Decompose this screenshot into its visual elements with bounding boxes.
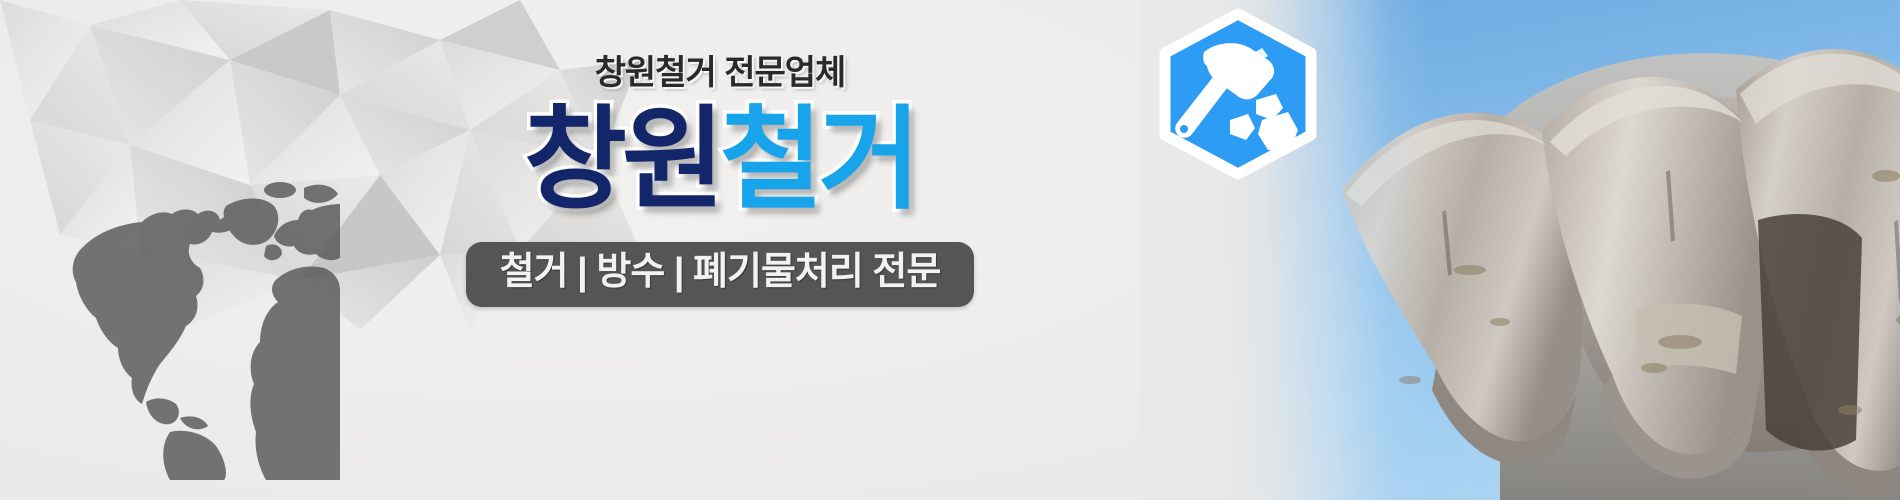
world-globe-graphic: [20, 150, 340, 480]
headline-primary: 창원: [524, 97, 720, 222]
headline: 창원철거: [340, 104, 1100, 216]
promo-banner: 창원철거 전문업체 창원철거 철거 | 방수 | 폐기물처리 전문: [0, 0, 1900, 500]
tagline: 창원철거 전문업체: [340, 56, 1100, 90]
headline-secondary: 철거: [720, 97, 916, 222]
hammer-and-rubble-icon: [1152, 8, 1324, 180]
services-bar: 철거 | 방수 | 폐기물처리 전문: [466, 242, 975, 307]
services-bar-label: 철거 | 방수 | 폐기물처리 전문: [500, 251, 941, 293]
banner-text-block: 창원철거 전문업체 창원철거 철거 | 방수 | 폐기물처리 전문: [340, 56, 1100, 396]
